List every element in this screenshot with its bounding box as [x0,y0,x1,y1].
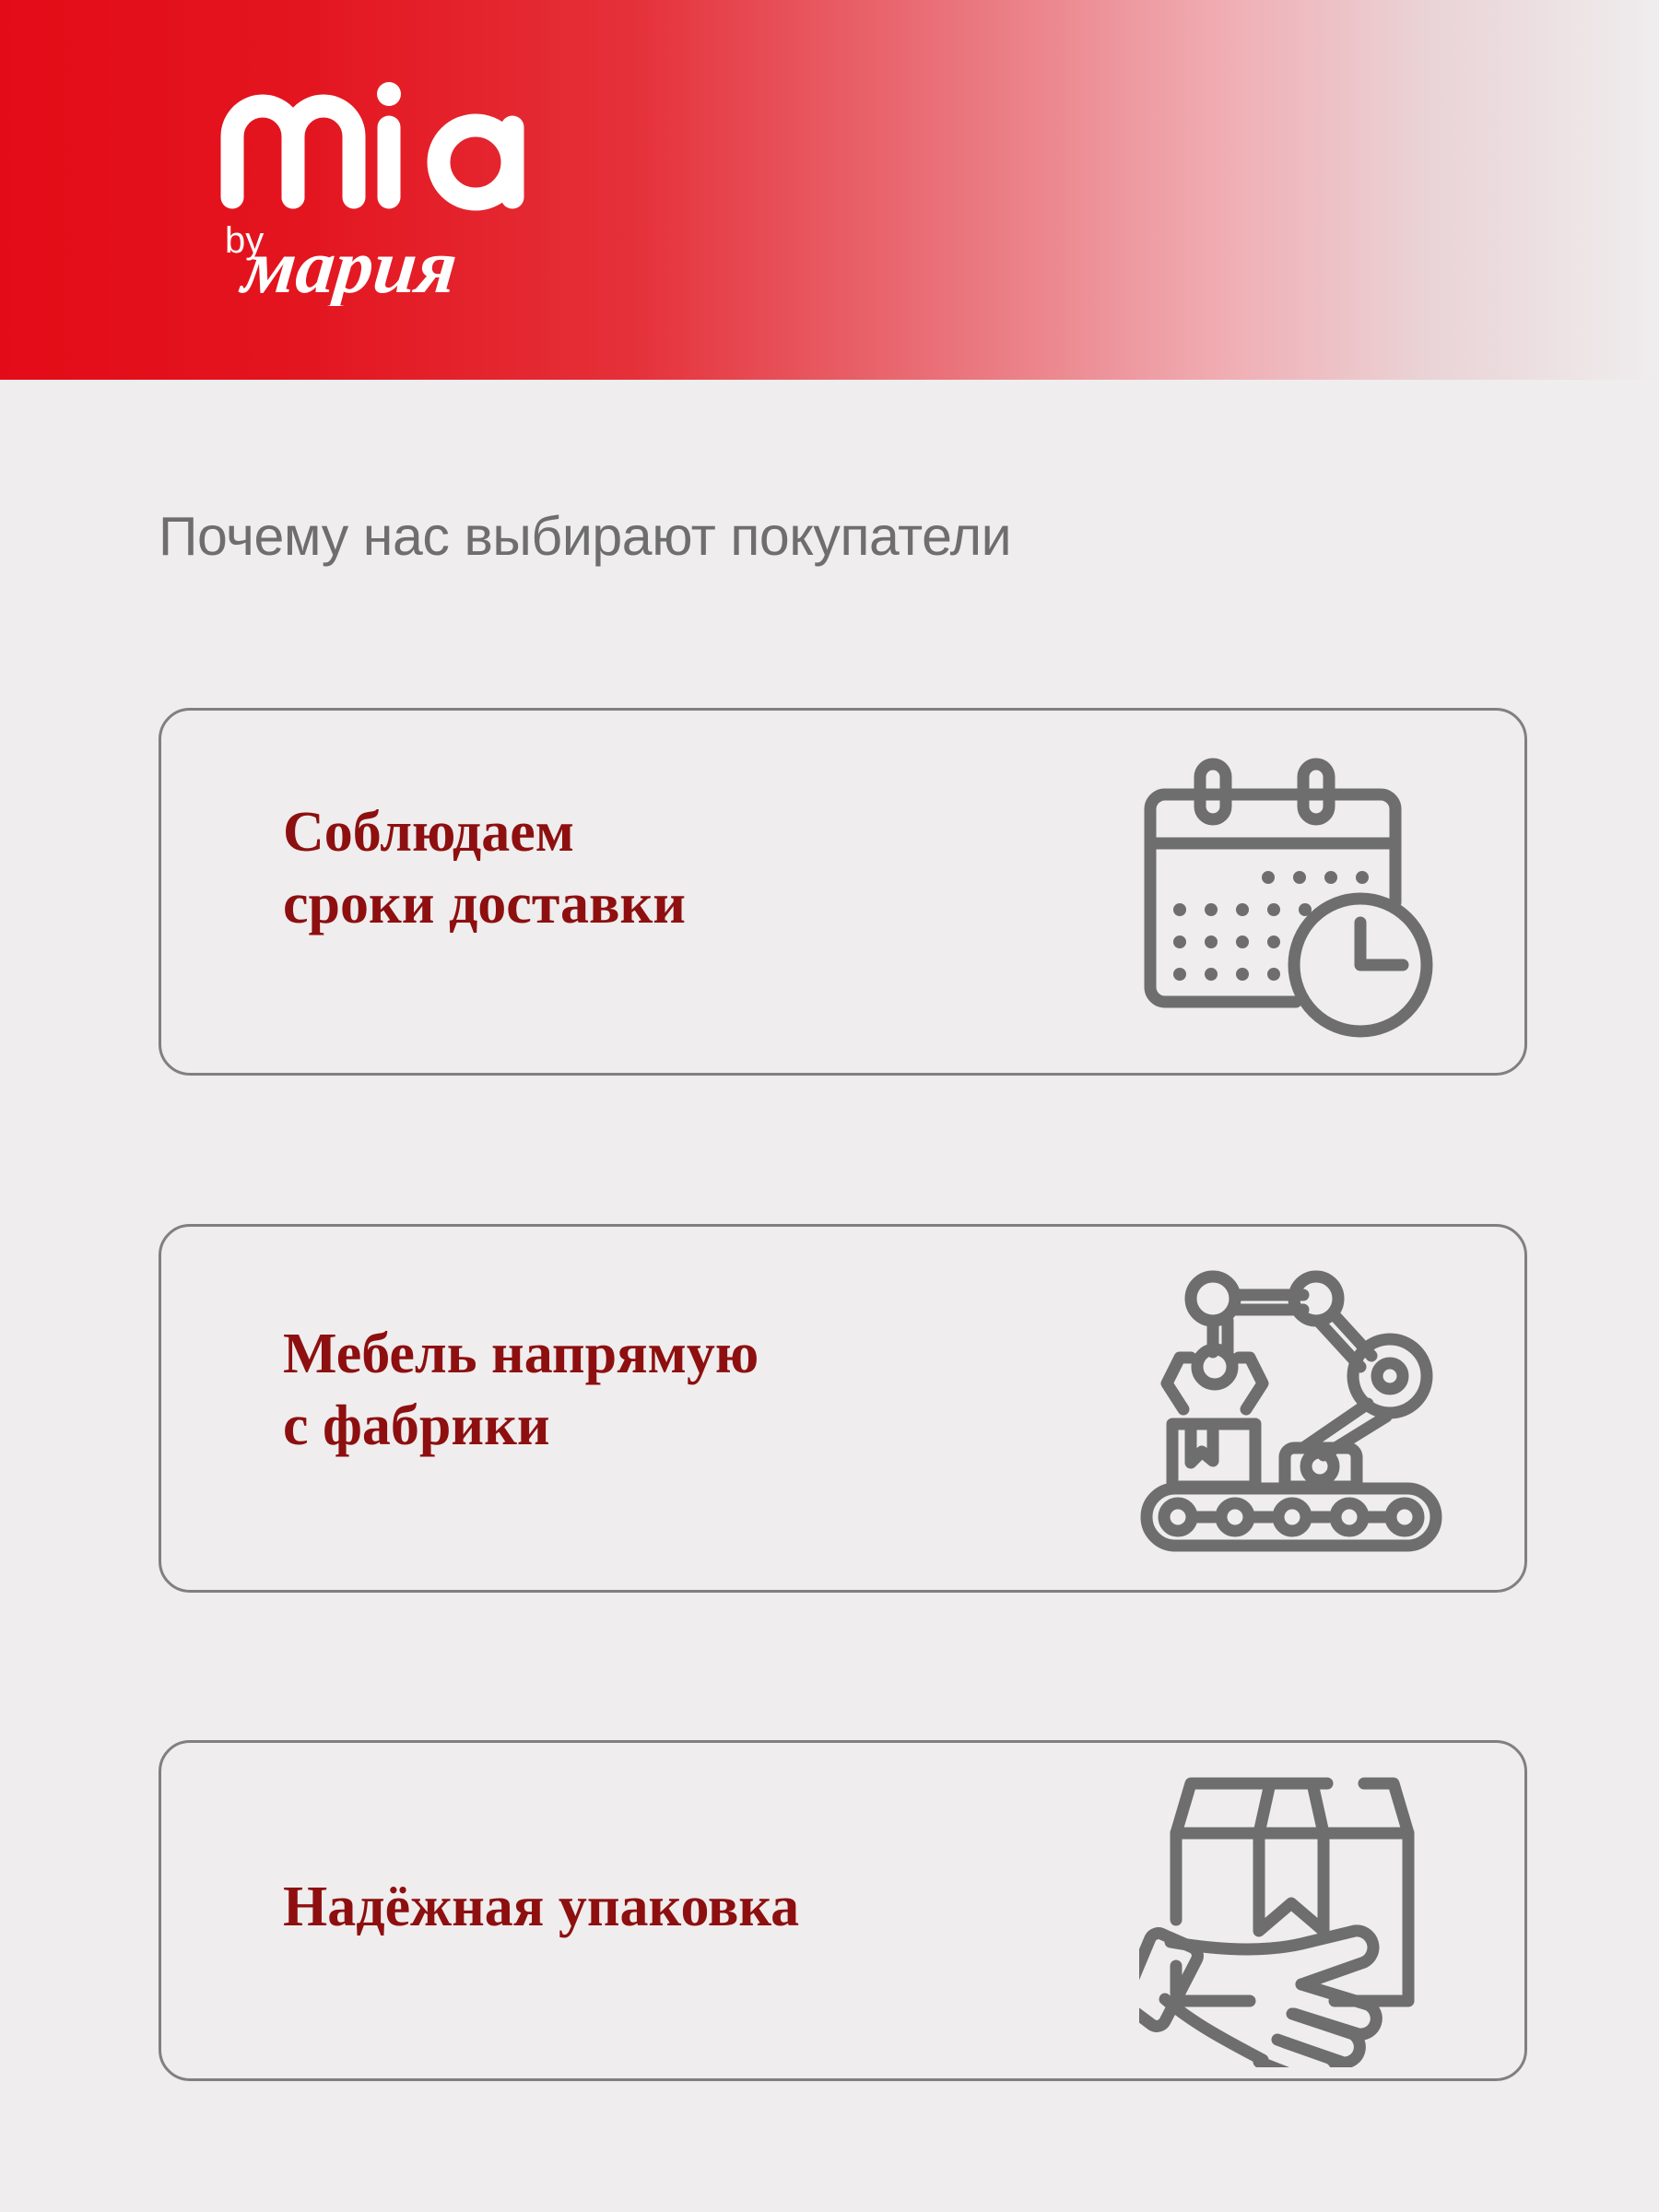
page-title: Почему нас выбирают покупатели [159,505,1011,568]
calendar-clock-icon [1139,746,1443,1041]
hand-package-icon [1139,1763,1443,2067]
benefit-card-title: Надёжная упаковка [283,1872,799,1944]
brand-header: by мария [0,0,1659,380]
svg-text:мария: мария [236,224,461,306]
benefit-card-title: Мебель напрямую с фабрики [283,1319,759,1462]
robot-arm-conveyor-icon [1139,1267,1443,1553]
brand-logo: by мария [218,57,605,306]
benefit-card-factory[interactable]: Мебель напрямую с фабрики [159,1224,1527,1593]
benefit-card-delivery[interactable]: Соблюдаем сроки доставки [159,708,1527,1076]
benefit-card-packaging[interactable]: Надёжная упаковка [159,1740,1527,2081]
benefit-card-title: Соблюдаем сроки доставки [283,797,686,940]
